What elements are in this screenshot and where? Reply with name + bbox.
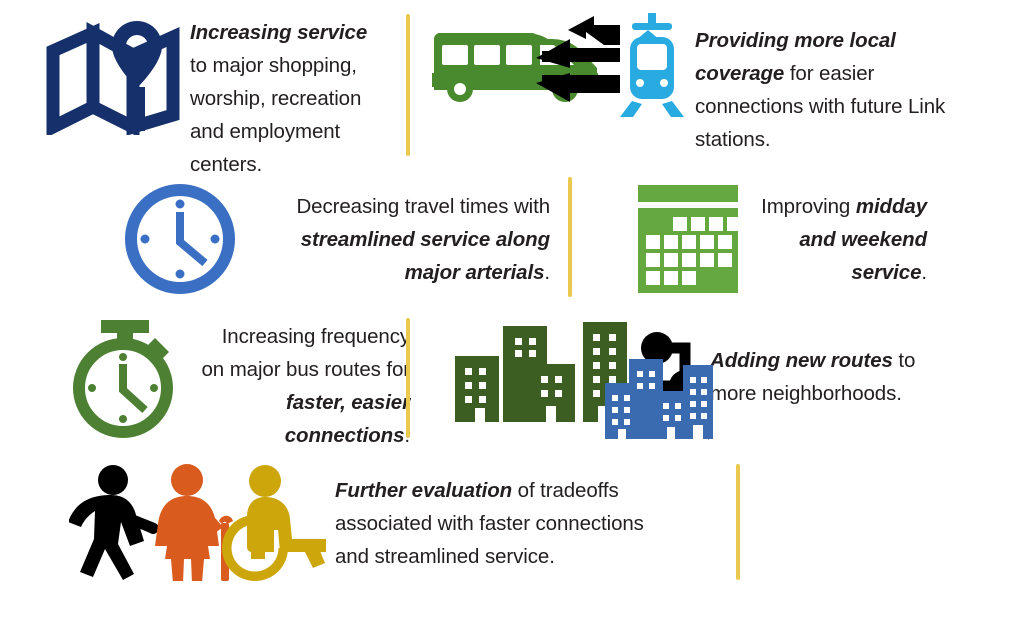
item-text: Providing more local coverage for easier… [695, 10, 985, 156]
item-text-emphasis: streamlined service along major arterial… [301, 228, 550, 284]
item-text: Improving midday and weekend service. [755, 180, 927, 289]
accessibility-pedestrians-icon [65, 462, 335, 582]
bus-and-light-rail-transfer-icon [430, 10, 695, 120]
item-text-lead: Improving [761, 195, 856, 218]
item-text-tail: . [921, 261, 927, 284]
item-text-emphasis: Adding new routes [710, 349, 893, 372]
item-text: Increasing frequency on major bus routes… [195, 316, 410, 452]
item-local-coverage: Providing more local coverage for easier… [430, 10, 1010, 156]
item-text: Further evaluation of tradeoffs associat… [335, 462, 665, 573]
item-text-emphasis: faster, easier connections [285, 391, 410, 447]
item-adding-new-routes: Adding new routes to more neighborhoods. [430, 316, 1010, 441]
folded-map-with-pin-icon [40, 10, 190, 140]
item-text: Adding new routes to more neighborhoods. [710, 316, 960, 410]
infographic-canvas: Increasing service to major shopping, wo… [0, 0, 1024, 618]
item-text-tail: . [544, 261, 550, 284]
divider-row4 [736, 464, 740, 580]
item-midday-weekend-service: Improving midday and weekend service. [620, 180, 1010, 298]
blue-buildings-cluster-icon [605, 355, 715, 440]
item-text-rest: to major shopping, worship, recreation a… [190, 54, 361, 176]
divider-row1 [406, 14, 410, 156]
item-increasing-frequency: Increasing frequency on major bus routes… [55, 316, 410, 452]
clock-icon [110, 180, 250, 298]
item-text: Increasing service to major shopping, wo… [190, 10, 380, 181]
item-further-evaluation: Further evaluation of tradeoffs associat… [65, 462, 765, 582]
item-text-lead: Increasing frequency on major bus routes… [202, 325, 411, 381]
item-text-emphasis: Increasing service [190, 21, 367, 44]
item-decreasing-travel-times: Decreasing travel times with streamlined… [110, 180, 560, 298]
calendar-icon [620, 180, 755, 298]
stopwatch-icon [55, 316, 195, 438]
item-increasing-service: Increasing service to major shopping, wo… [40, 10, 410, 181]
divider-row2 [568, 177, 572, 297]
item-text: Decreasing travel times with streamlined… [250, 180, 550, 289]
item-text-emphasis: Further evaluation [335, 479, 512, 502]
divider-row3 [406, 318, 410, 438]
item-text-lead: Decreasing travel times with [296, 195, 550, 218]
